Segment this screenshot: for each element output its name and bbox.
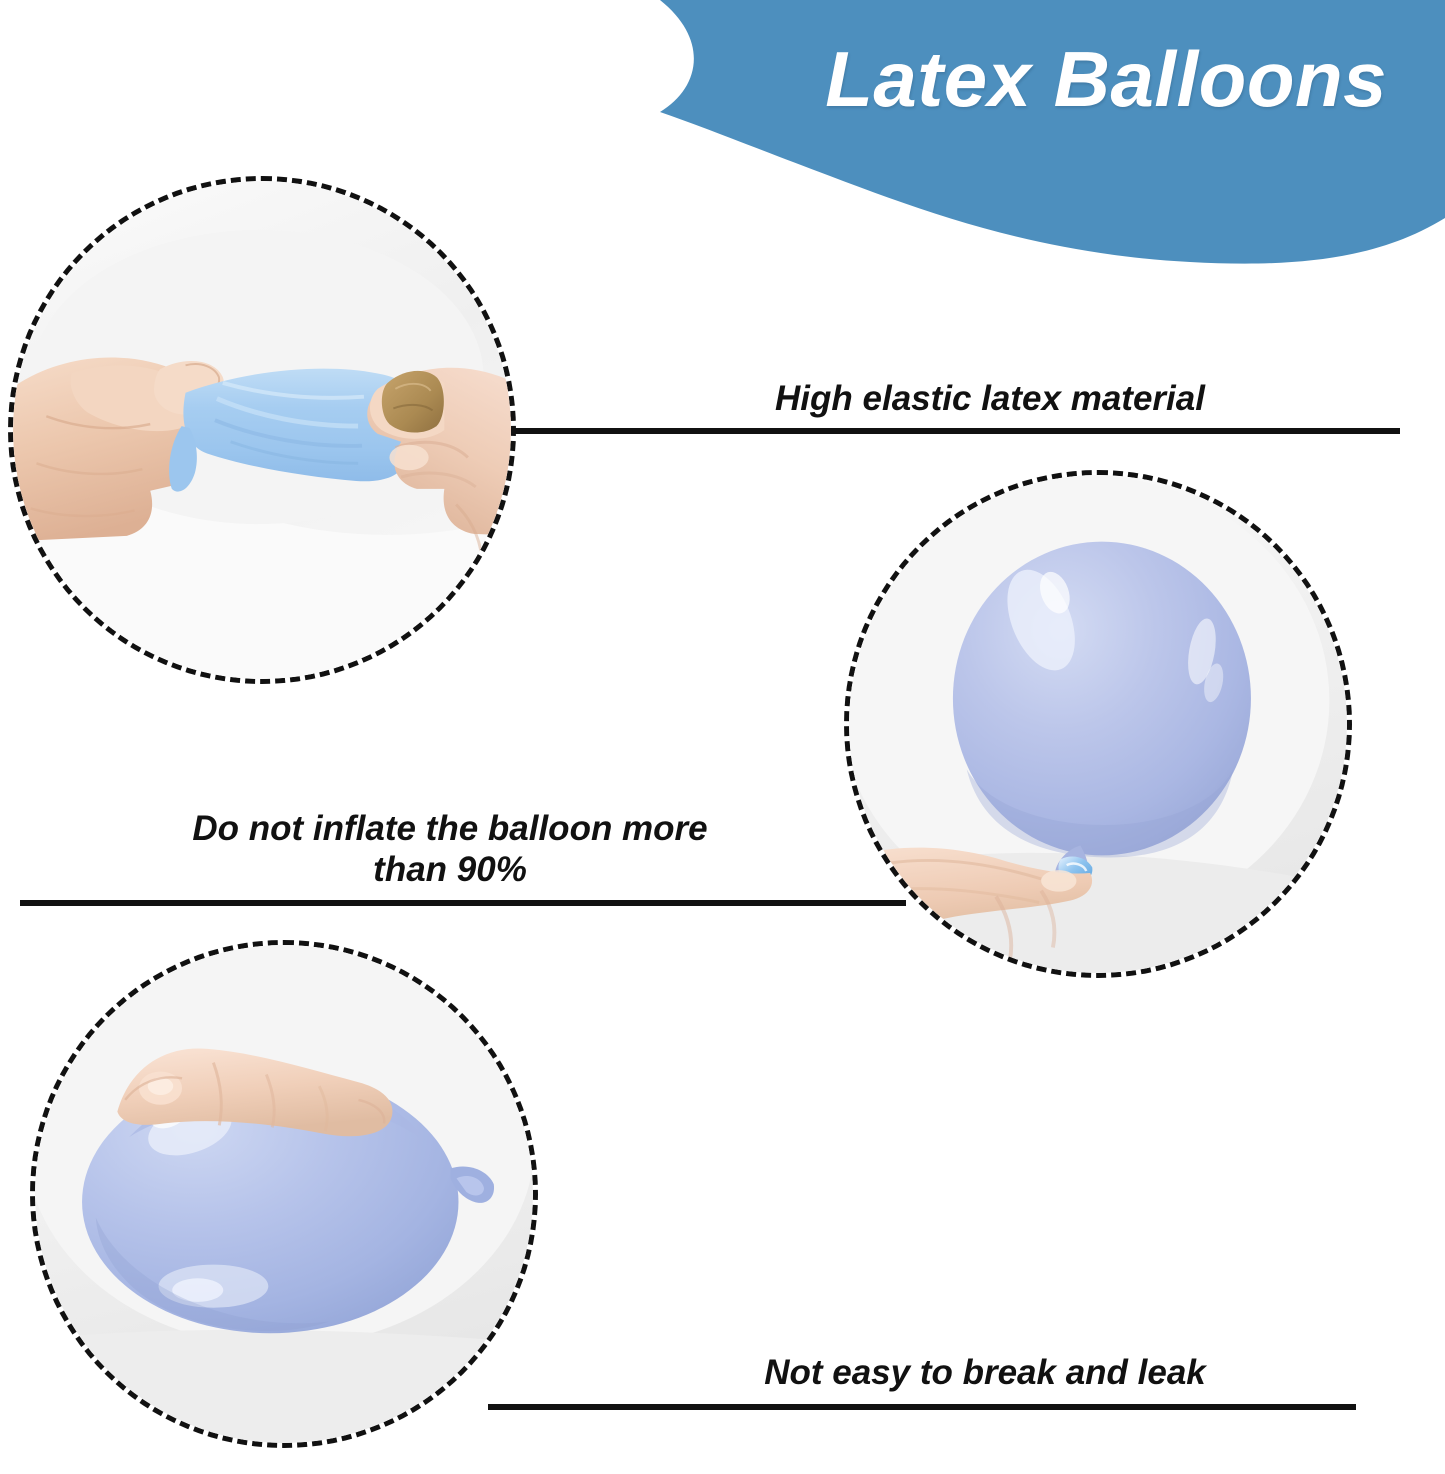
page-title: Latex Balloons: [825, 34, 1387, 125]
feature-connector-line-3: [488, 1404, 1356, 1410]
photo-clip-1: [13, 181, 511, 679]
feature-caption-inflate-limit: Do not inflate the balloon more than 90%: [60, 808, 840, 891]
photo-clip-3: [35, 945, 533, 1443]
feature-connector-line-1: [512, 428, 1400, 434]
hand-pressing-balloon-illustration: [35, 945, 533, 1443]
inflated-balloon-illustration: [849, 475, 1347, 973]
feature-connector-line-2: [20, 900, 906, 906]
feature-caption-durability: Not easy to break and leak: [600, 1352, 1370, 1393]
feature-photo-hand-pressing-balloon: [30, 940, 538, 1448]
photo-clip-2: [849, 475, 1347, 973]
feature-caption-high-elastic: High elastic latex material: [640, 378, 1340, 419]
infographic-page: Latex Balloons: [0, 0, 1445, 1474]
hands-stretching-balloon-illustration: [13, 181, 511, 679]
feature-photo-inflated-balloon: [844, 470, 1352, 978]
feature-photo-hands-stretching-balloon: [8, 176, 516, 684]
